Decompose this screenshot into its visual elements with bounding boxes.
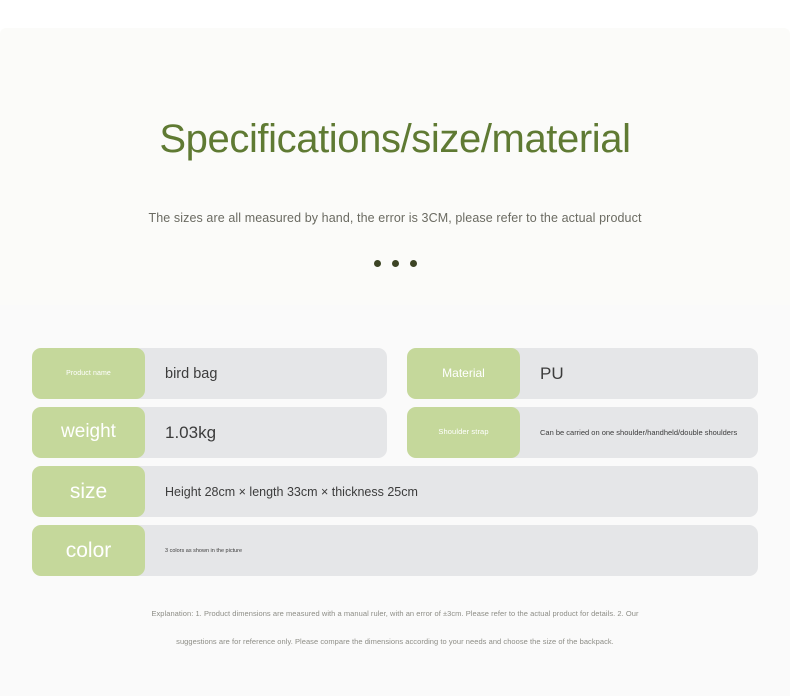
spec-label-text: weight [61,422,116,443]
spec-label-weight: weight [32,407,145,458]
spec-cell-product-name: Product name bird bag [32,348,387,399]
product-spec-page: Specifications/size/material The sizes a… [0,0,790,696]
spec-label-text: Material [442,367,485,380]
spec-cell-shoulder-strap: Shoulder strap Can be carried on one sho… [407,407,758,458]
spec-label-shoulder-strap: Shoulder strap [407,407,520,458]
spec-value-size: Height 28cm × length 33cm × thickness 25… [135,466,758,517]
spec-label-text: color [66,539,112,562]
page-title: Specifications/size/material [0,112,790,166]
dot-icon [392,260,399,267]
spec-cell-size: size Height 28cm × length 33cm × thickne… [32,466,758,517]
spec-cell-material: Material PU [407,348,758,399]
footer-line-2: suggestions are for reference only. Plea… [0,628,790,656]
spec-value-weight: 1.03kg [135,407,387,458]
spec-row: weight 1.03kg Shoulder strap Can be carr… [0,407,790,458]
spec-label-text: size [70,480,107,503]
spec-row: size Height 28cm × length 33cm × thickne… [0,466,790,517]
spec-label-text: Shoulder strap [438,428,488,436]
spec-label-material: Material [407,348,520,399]
spec-label-product-name: Product name [32,348,145,399]
spec-row: Product name bird bag Material PU [0,348,790,399]
spec-label-text: Product name [66,370,111,378]
spec-footer: Explanation: 1. Product dimensions are m… [0,600,790,656]
spec-label-color: color [32,525,145,576]
spec-value-product-name: bird bag [135,348,387,399]
spec-label-size: size [32,466,145,517]
page-subtitle: The sizes are all measured by hand, the … [0,208,790,228]
spec-row: color 3 colors as shown in the picture [0,525,790,576]
dot-separator [0,260,790,267]
spec-value-material: PU [510,348,758,399]
spec-value-shoulder-strap: Can be carried on one shoulder/handheld/… [510,407,758,458]
dot-icon [410,260,417,267]
spec-table: Product name bird bag Material PU weight… [0,348,790,584]
spec-cell-weight: weight 1.03kg [32,407,387,458]
footer-line-1: Explanation: 1. Product dimensions are m… [0,600,790,628]
dot-icon [374,260,381,267]
spec-value-color: 3 colors as shown in the picture [135,525,758,576]
spec-header: Specifications/size/material The sizes a… [0,28,790,300]
spec-cell-color: color 3 colors as shown in the picture [32,525,758,576]
